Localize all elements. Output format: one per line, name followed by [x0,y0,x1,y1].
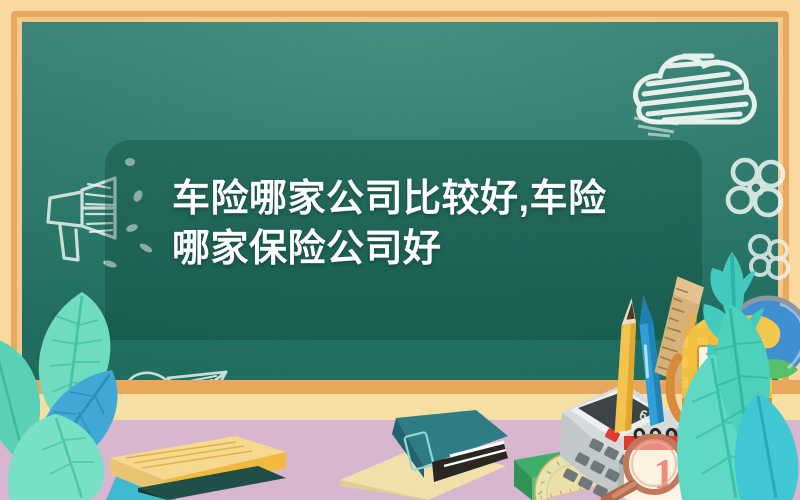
banner-canvas: 车险哪家公司比较好,车险 哪家保险公司好 [0,0,800,500]
books-center-icon [300,408,510,500]
page-title: 车险哪家公司比较好,车险 哪家保险公司好 [172,174,692,274]
books-left-icon [108,430,288,500]
leaf-cluster-far-right-icon [700,300,800,500]
flower-doodle-icon [718,150,796,228]
